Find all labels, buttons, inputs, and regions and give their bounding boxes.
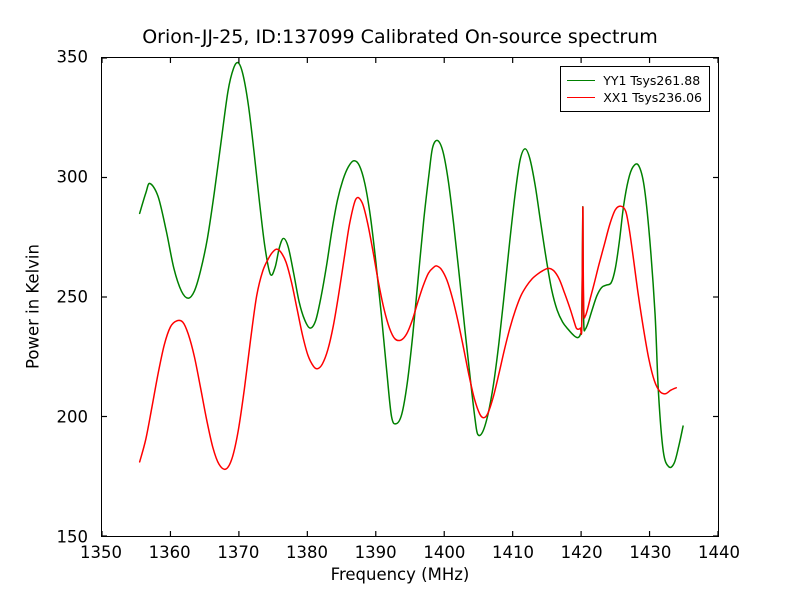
chart-title: Orion-JJ-25, ID:137099 Calibrated On-sou… (0, 26, 800, 48)
y-tick-label: 200 (0, 408, 88, 427)
legend-entry-yy1: YY1 Tsys261.88 (567, 72, 702, 89)
x-tick-label: 1440 (674, 543, 764, 562)
figure-canvas: Orion-JJ-25, ID:137099 Calibrated On-sou… (0, 0, 800, 600)
legend-box: YY1 Tsys261.88 XX1 Tsys236.06 (560, 66, 710, 112)
plot-axes: YY1 Tsys261.88 XX1 Tsys236.06 (101, 57, 719, 537)
legend-entry-xx1: XX1 Tsys236.06 (567, 89, 702, 106)
y-axis-label: Power in Kelvin (24, 157, 43, 457)
series-line-xx1 (140, 198, 677, 470)
y-tick-label: 300 (0, 168, 88, 187)
x-axis-label: Frequency (MHz) (0, 565, 800, 584)
legend-swatch-xx1 (567, 97, 595, 98)
legend-swatch-yy1 (567, 80, 595, 81)
y-tick-label: 250 (0, 288, 88, 307)
legend-label-xx1: XX1 Tsys236.06 (603, 90, 702, 105)
legend-label-yy1: YY1 Tsys261.88 (603, 73, 700, 88)
y-tick-label: 350 (0, 48, 88, 67)
series-line-yy1 (140, 63, 683, 468)
spectrum-plot-svg (102, 58, 718, 536)
